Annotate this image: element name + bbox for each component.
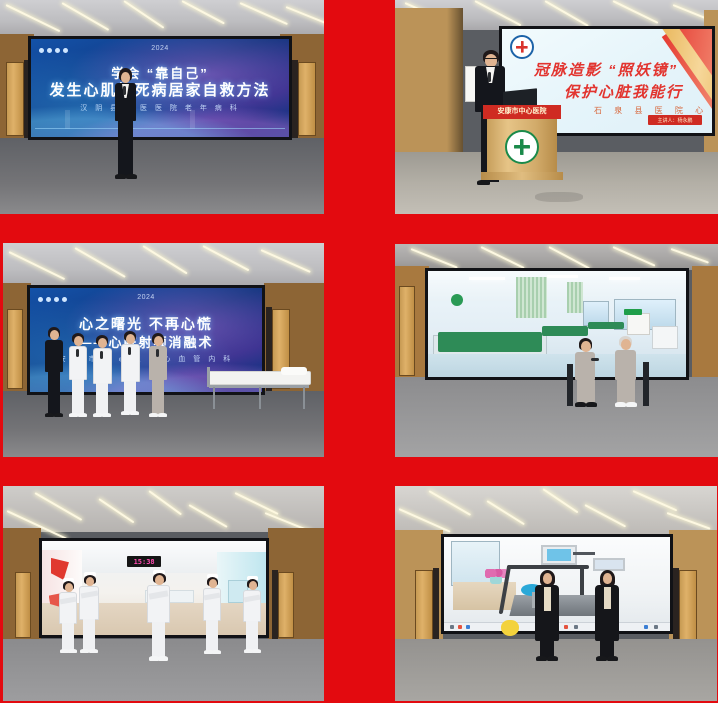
legs	[62, 623, 74, 651]
screen-title-line2: 发生心肌梗死病居家自救方法	[31, 79, 289, 100]
floor-patch	[535, 192, 583, 202]
person-elderly-patient-seated	[611, 336, 645, 410]
treadmill-rail	[507, 565, 588, 569]
ward-bed-mattress	[438, 332, 541, 351]
legs	[124, 381, 136, 413]
door-right	[298, 62, 316, 136]
podium-hospital-logo	[505, 130, 539, 164]
person-presenter-right	[591, 570, 623, 666]
floor	[395, 377, 718, 457]
legs	[152, 622, 165, 658]
door-left	[15, 572, 31, 638]
legs	[48, 371, 60, 415]
shoe	[626, 402, 637, 407]
bed-pillow	[281, 367, 307, 375]
person-patient-seated	[571, 338, 605, 410]
gym-monitor-arm	[573, 552, 596, 555]
head	[86, 577, 94, 586]
shoe	[212, 650, 221, 654]
shoe	[89, 649, 98, 653]
chair	[643, 362, 649, 406]
screen-title-line2: 保护心脏我能行	[564, 81, 683, 102]
glasses-icon	[485, 58, 497, 62]
legs	[118, 120, 133, 176]
person-nurse	[239, 576, 265, 658]
skyline-line	[35, 110, 285, 129]
shoe	[126, 174, 137, 179]
shoe	[93, 413, 102, 417]
ward-light	[469, 277, 505, 280]
shoe	[158, 656, 168, 661]
door-frame-right	[272, 570, 278, 640]
ward-wall-sign	[451, 294, 463, 306]
door-left	[415, 570, 433, 640]
shoe	[45, 413, 54, 417]
shoe	[547, 656, 558, 661]
legs	[617, 380, 635, 404]
shoe	[575, 402, 586, 407]
screen-brandmark: 2024	[137, 294, 155, 301]
shoe	[536, 656, 547, 661]
head	[74, 336, 83, 346]
shoe	[158, 413, 167, 417]
legs	[577, 380, 595, 404]
head	[209, 579, 217, 588]
plant-pot	[490, 577, 502, 584]
shoe	[80, 649, 89, 653]
yellow-duck-prop	[501, 620, 519, 636]
microphone	[488, 72, 491, 82]
photo-panel-top-left[interactable]: Presenter on stage in front of blue LED …	[0, 0, 324, 214]
podium-base	[481, 172, 563, 180]
photo-panel-middle-left[interactable]: Five medical staff with microphones in f…	[3, 243, 324, 457]
shoe	[115, 174, 126, 179]
ceiling	[3, 486, 324, 532]
door-frame-right	[673, 568, 679, 642]
door-frame-right	[292, 60, 298, 138]
torso	[575, 352, 595, 380]
podium-band-text: 安康市中心医院	[483, 105, 561, 119]
shoe	[477, 180, 490, 185]
ward-bed-mattress	[542, 326, 588, 336]
inner-top	[604, 587, 611, 609]
shoe	[596, 656, 607, 661]
gym-screen-right	[593, 558, 625, 571]
bed-leg	[259, 387, 261, 409]
microphone	[128, 347, 131, 355]
head	[603, 573, 612, 584]
led-screen: 2024 学会 “靠自己” 发生心肌梗死病居家自救方法 汉 阴 县 中 医 医 …	[28, 36, 292, 140]
bed-leg	[213, 387, 215, 409]
shoe	[149, 413, 158, 417]
bed-leg	[303, 387, 305, 409]
screen-title-line1: 冠脉造影 “照妖镜”	[534, 59, 678, 80]
shoe	[252, 649, 261, 653]
photo-panel-middle-right[interactable]: Two performers in patient pyjamas seated…	[395, 244, 718, 457]
person-doctor	[89, 335, 115, 419]
inner-top	[544, 587, 551, 611]
head	[543, 573, 552, 584]
legs	[152, 379, 164, 415]
legs	[72, 379, 84, 415]
head	[126, 334, 135, 344]
screen-brandmark: 2024	[151, 45, 169, 52]
microphone	[591, 358, 599, 361]
head	[621, 339, 631, 350]
ward-light	[547, 275, 578, 278]
shoe	[586, 402, 597, 407]
ward-cabinet	[652, 326, 678, 349]
microphone	[100, 351, 103, 359]
head	[154, 336, 163, 346]
shoe	[121, 411, 130, 415]
person-nurse	[143, 570, 173, 666]
ceiling	[3, 243, 324, 287]
wall-right	[692, 266, 718, 382]
head	[249, 581, 257, 590]
person-nurse	[75, 572, 103, 658]
bed-rail	[207, 367, 210, 387]
led-clock: 15:38	[127, 556, 161, 567]
person-presenter	[110, 68, 140, 184]
screen-footnote: 主讲人：杨永鹏	[650, 117, 700, 124]
shoe	[54, 413, 63, 417]
door-right	[679, 570, 697, 640]
photo-panel-bottom-right[interactable]: Two women in long black coats presenting…	[395, 486, 717, 701]
microphone	[123, 86, 126, 95]
shoe	[78, 413, 87, 417]
head	[155, 575, 164, 585]
ward-curtain	[516, 277, 547, 317]
person-doctor	[117, 331, 143, 419]
floor	[0, 138, 324, 214]
ward-exit-sign	[624, 309, 642, 315]
torso	[45, 340, 63, 372]
head	[65, 583, 73, 592]
screen-dots	[39, 48, 68, 53]
microphone	[156, 349, 159, 357]
head	[121, 72, 130, 83]
legs	[206, 620, 218, 652]
legs	[246, 621, 258, 651]
person-nurse	[199, 574, 225, 658]
shoe	[102, 413, 111, 417]
person-nurse	[65, 333, 91, 419]
head	[581, 341, 591, 352]
door-left	[6, 62, 24, 136]
led-screen	[425, 268, 689, 380]
ward-bed-mattress	[588, 322, 624, 329]
photo-collage: Presenter on stage in front of blue LED …	[0, 0, 718, 703]
hospital-bed	[207, 367, 311, 411]
microphone	[76, 349, 79, 357]
door-left	[399, 286, 415, 376]
chair	[567, 364, 573, 406]
shoe	[69, 413, 78, 417]
legs	[96, 383, 108, 415]
ward-board	[627, 313, 650, 334]
photo-panel-bottom-left[interactable]: Five nurses in white coats performing a …	[3, 486, 324, 701]
legs	[83, 619, 95, 651]
podium-band: 安康市中心医院	[483, 105, 561, 119]
ceiling	[395, 244, 718, 270]
ward-light	[609, 277, 640, 280]
door-right	[278, 572, 294, 638]
door-left	[7, 309, 23, 389]
head	[98, 338, 107, 348]
photo-panel-top-right[interactable]: Speaker at wooden podium with red-themed…	[395, 0, 718, 214]
door-frame-left	[433, 568, 439, 642]
ward-curtain	[567, 282, 582, 314]
person-patient	[145, 333, 171, 419]
shoe	[607, 656, 618, 661]
person-host	[41, 327, 67, 419]
head	[50, 330, 59, 340]
torso	[615, 350, 636, 380]
shoe	[615, 402, 626, 407]
person-presenter-left	[531, 570, 563, 666]
hospital-logo	[510, 35, 534, 59]
shoe	[130, 411, 139, 415]
screen-dots	[38, 297, 67, 302]
